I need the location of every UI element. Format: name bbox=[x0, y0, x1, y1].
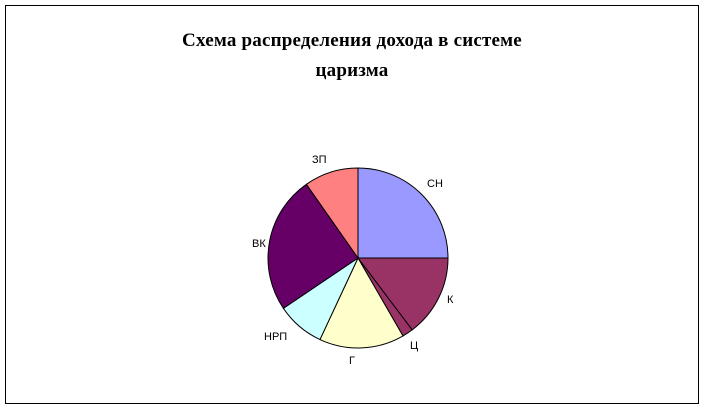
pie-label-Г: Г bbox=[349, 355, 355, 367]
screenshot-root: Схема распределения дохода в системе цар… bbox=[0, 0, 706, 411]
pie-label-Ц: Ц bbox=[410, 340, 418, 352]
pie-chart bbox=[6, 6, 700, 405]
pie-label-ЗП: ЗП bbox=[312, 154, 327, 166]
pie-label-НРП: НРП bbox=[264, 331, 287, 343]
pie-label-ВК: ВК bbox=[252, 238, 266, 250]
chart-frame: Схема распределения дохода в системе цар… bbox=[5, 5, 699, 404]
pie-label-СН: СН bbox=[427, 178, 443, 190]
pie-label-К: К bbox=[447, 294, 453, 306]
pie-slice-group bbox=[268, 168, 448, 348]
plot-area: СНКЦГНРПВКЗП bbox=[6, 6, 700, 405]
